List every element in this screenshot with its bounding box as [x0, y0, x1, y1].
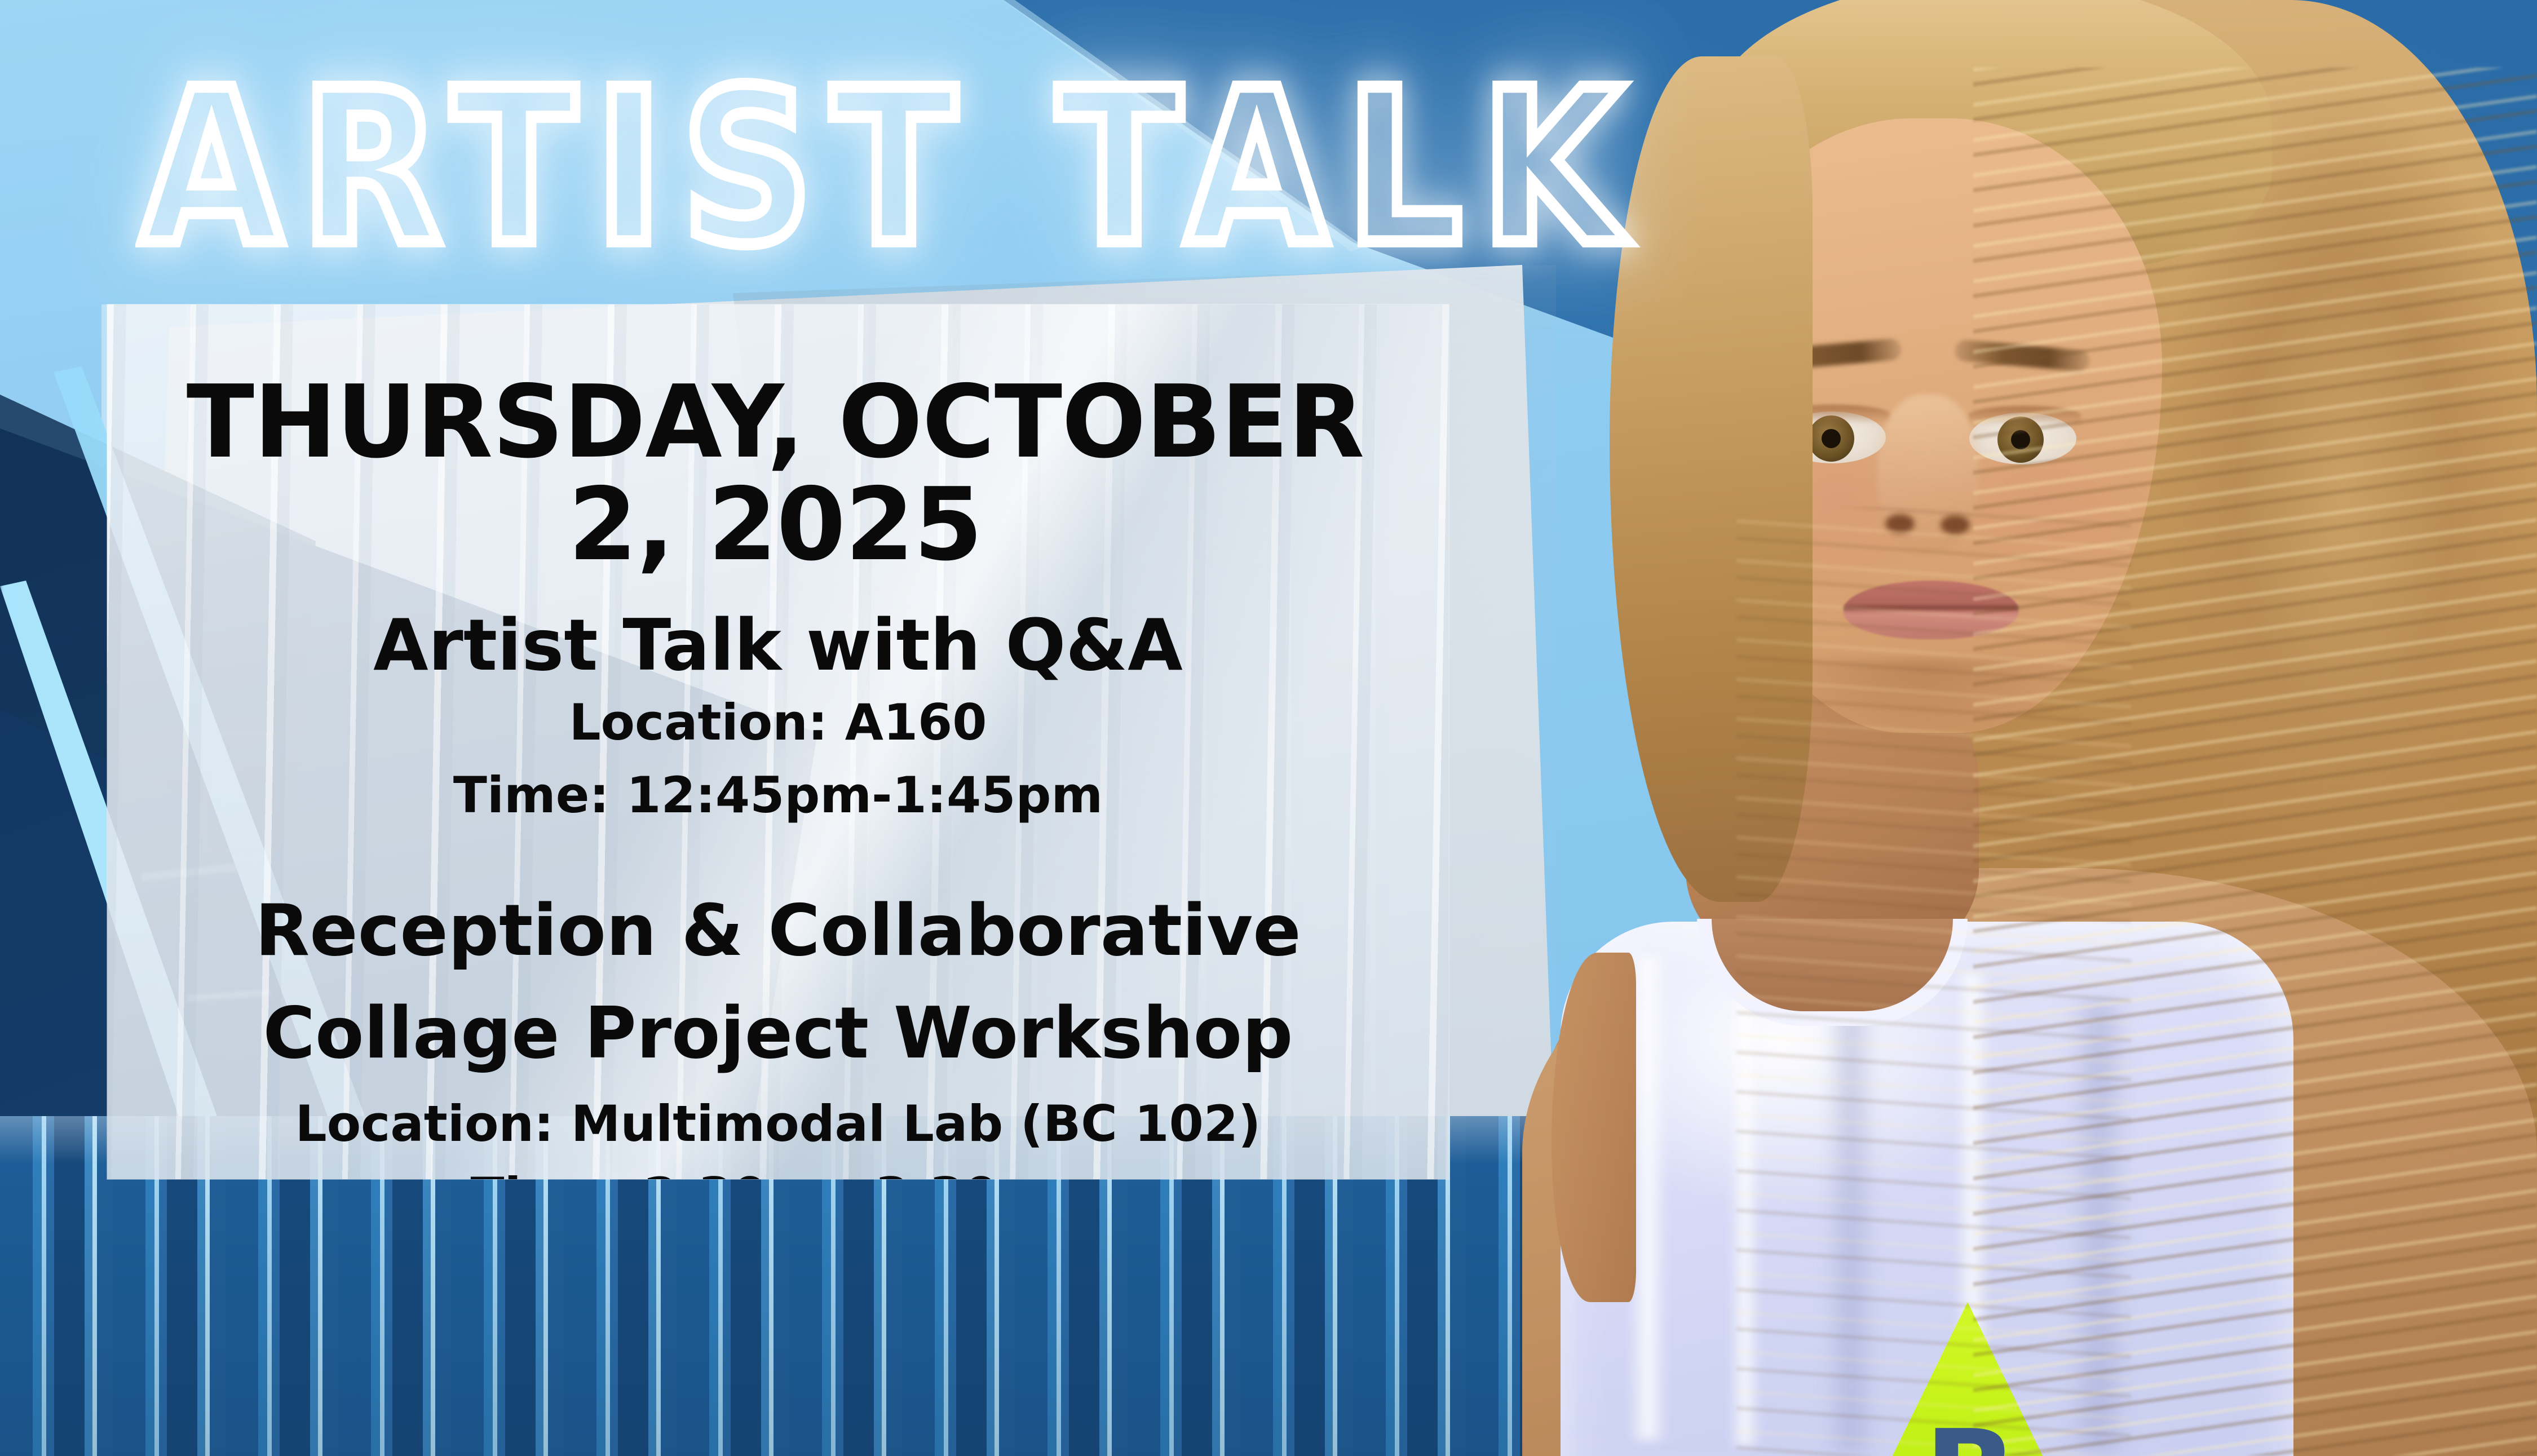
page-title-artist-talk: ARTIST TALK — [141, 62, 1412, 274]
event-1-location: Location: A160 — [107, 691, 1449, 755]
event-1-heading: Artist Talk with Q&A — [107, 608, 1449, 683]
left-pupil — [1822, 429, 1841, 448]
event-1-time: Time: 12:45pm-1:45pm — [107, 763, 1449, 827]
event-flyer-poster: B ARTIST TALK THURSDAY, OCTOBER 2, 2025 … — [0, 0, 2537, 1456]
hair-strand-texture-center — [1736, 507, 2131, 1456]
event-2-location: Location: Multimodal Lab (BC 102) — [107, 1092, 1449, 1156]
event-2-time: Time: 2:30pm-3:30pm — [107, 1164, 1449, 1179]
shirt-logo-letter: B — [1906, 1414, 2035, 1456]
event-details-card: THURSDAY, OCTOBER 2, 2025 Artist Talk wi… — [107, 304, 1449, 1179]
event-2-heading: Reception & Collaborative Collage Projec… — [107, 879, 1449, 1084]
section-spacer — [107, 827, 1449, 879]
event-date: THURSDAY, OCTOBER 2, 2025 — [114, 304, 1442, 576]
